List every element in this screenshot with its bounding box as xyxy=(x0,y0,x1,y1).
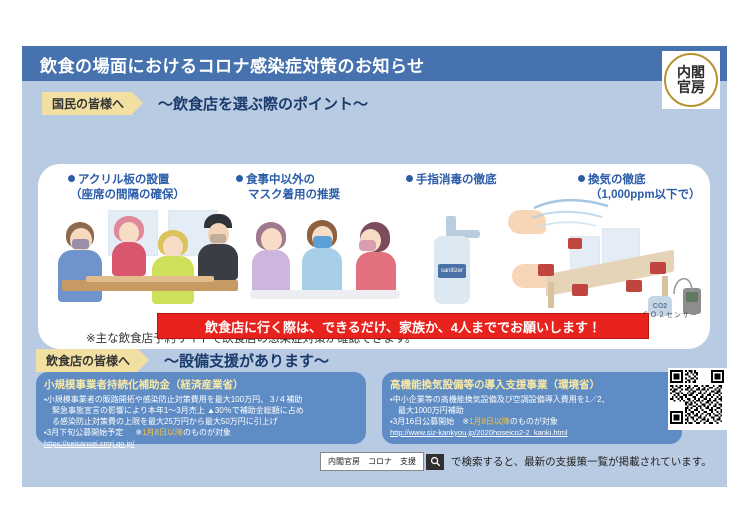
subsidy-line-with-note: ・3月16日公募開始 ※1月8日以降のものが対象 xyxy=(390,416,674,427)
subsidy-line: 緊急事態宣言の影響により本年1〜3月売上 ▲30％で補助金総額に占め xyxy=(44,405,358,416)
point-heading-sanitize: 手指消毒の徹底 xyxy=(406,173,497,188)
citizens-tag: 国民の皆様へ xyxy=(42,92,132,115)
person-illustration xyxy=(198,214,240,280)
citizens-heading-row: 国民の皆様へ 〜飲食店を選ぶ際のポイント〜 xyxy=(42,92,368,115)
seal-text-line2: 官房 xyxy=(677,80,705,95)
bullet-icon xyxy=(406,175,413,182)
co2-sensor-caption: ＣＯ２センサー xyxy=(642,310,698,320)
note-suffix: のものが対象 xyxy=(183,428,231,437)
search-input[interactable]: 内閣官房 コロナ 支援 xyxy=(320,452,424,471)
restaurants-tag: 飲食店の皆様へ xyxy=(36,349,138,372)
illustration-mask-dining xyxy=(250,206,400,314)
illustration-hand-sanitizer: sanitizer xyxy=(416,206,546,316)
bullet-icon xyxy=(68,175,75,182)
cabinet-secretariat-seal: 内閣 官房 xyxy=(662,51,720,109)
note-suffix: のものが対象 xyxy=(510,417,558,426)
subsidy-line: ・小規模事業者の販路開拓や感染防止対策費用を最大100万円、３/４補助 xyxy=(44,394,358,405)
subsidy-line-text: ・3月下旬公募開始予定 xyxy=(44,428,123,437)
subsidy-title-meti: 小規模事業者持続化補助金（経済産業省） xyxy=(44,377,358,392)
person-illustration xyxy=(354,222,396,294)
seal-ring: 内閣 官房 xyxy=(664,53,718,107)
note-highlight: 1月8日以降 xyxy=(469,417,510,426)
illustration-ventilated-room: CO2 xyxy=(530,192,710,322)
illustration-acrylic-dining xyxy=(52,204,242,314)
point-main-3: 換気の徹底 xyxy=(588,174,646,186)
subsidy-card-env: 高機能換気設備等の導入支援事業（環境省） ・中小企業等の高機能換気設備及び空調設… xyxy=(382,372,682,444)
point-heading-mask: 食事中以外の マスク着用の推奨 xyxy=(236,173,340,203)
citizens-title: 〜飲食店を選ぶ際のポイント〜 xyxy=(158,93,368,114)
alert-banner: 飲食店に行く際は、できるだけ、家族か、4人まででお願いします！ xyxy=(157,313,649,339)
person-illustration xyxy=(152,230,196,304)
point-main-2: 手指消毒の徹底 xyxy=(416,174,497,186)
person-illustration xyxy=(302,220,344,294)
note-highlight: 1月8日以降 xyxy=(142,428,183,437)
subsidy-line-text: ・3月16日公募開始 xyxy=(390,417,454,426)
sanitizer-bottle-label: sanitizer xyxy=(441,268,463,274)
restaurants-heading-row: 飲食店の皆様へ 〜設備支援があります〜 xyxy=(36,349,329,372)
page-title: 飲食の場面におけるコロナ感染症対策のお知らせ xyxy=(40,52,425,77)
point-main-0: アクリル板の設置 xyxy=(78,174,169,186)
qr-code-image xyxy=(670,370,724,424)
bullet-icon xyxy=(236,175,243,182)
qr-code xyxy=(668,368,730,430)
subsidy-title-env: 高機能換気設備等の導入支援事業（環境省） xyxy=(390,377,674,392)
subsidy-link-env[interactable]: http://www.siz-kankyou.jp/2020hoseico2-2… xyxy=(390,428,674,437)
alert-banner-text: 飲食店に行く際は、できるだけ、家族か、4人まででお願いします！ xyxy=(205,317,601,336)
point-main-1: 食事中以外の xyxy=(246,174,315,186)
search-button[interactable] xyxy=(426,454,444,470)
seal-text-line1: 内閣 xyxy=(677,65,705,80)
search-instruction-text: で検索すると、最新の支援策一覧が掲載されています。 xyxy=(451,454,712,469)
subsidy-line-with-note: ・3月下旬公募開始予定 ※1月8日以降のものが対象 xyxy=(44,427,358,438)
subsidy-card-meti: 小規模事業者持続化補助金（経済産業省） ・小規模事業者の販路開拓や感染防止対策費… xyxy=(36,372,366,444)
poster-root: 飲食の場面におけるコロナ感染症対策のお知らせ 内閣 官房 国民の皆様へ 〜飲食店… xyxy=(22,46,727,487)
point-heading-acrylic: アクリル板の設置 （座席の間隔の確保） xyxy=(68,173,185,203)
bullet-icon xyxy=(578,175,585,182)
subsidy-line: ・中小企業等の高機能換気設備及び空調設備導入費用を1／2、 xyxy=(390,394,674,405)
restaurants-title: 〜設備支援があります〜 xyxy=(164,350,329,371)
search-row: 内閣官房 コロナ 支援 で検索すると、最新の支援策一覧が掲載されています。 xyxy=(320,452,712,471)
point-sub-1: マスク着用の推奨 xyxy=(248,188,340,203)
point-sub-0: （座席の間隔の確保） xyxy=(70,188,185,203)
search-icon xyxy=(430,456,441,467)
person-illustration xyxy=(110,216,150,276)
subsidy-line: 最大1000万円補助 xyxy=(390,405,674,416)
person-illustration xyxy=(252,222,292,294)
header-bar: 飲食の場面におけるコロナ感染症対策のお知らせ xyxy=(22,46,727,81)
note-prefix: ※ xyxy=(462,417,469,426)
subsidy-line: る感染防止対策費の上限を最大25万円から最大50万円に引上げ xyxy=(44,416,358,427)
subsidy-link-meti[interactable]: https://seisansei.smrj.go.jp/ xyxy=(44,439,358,448)
